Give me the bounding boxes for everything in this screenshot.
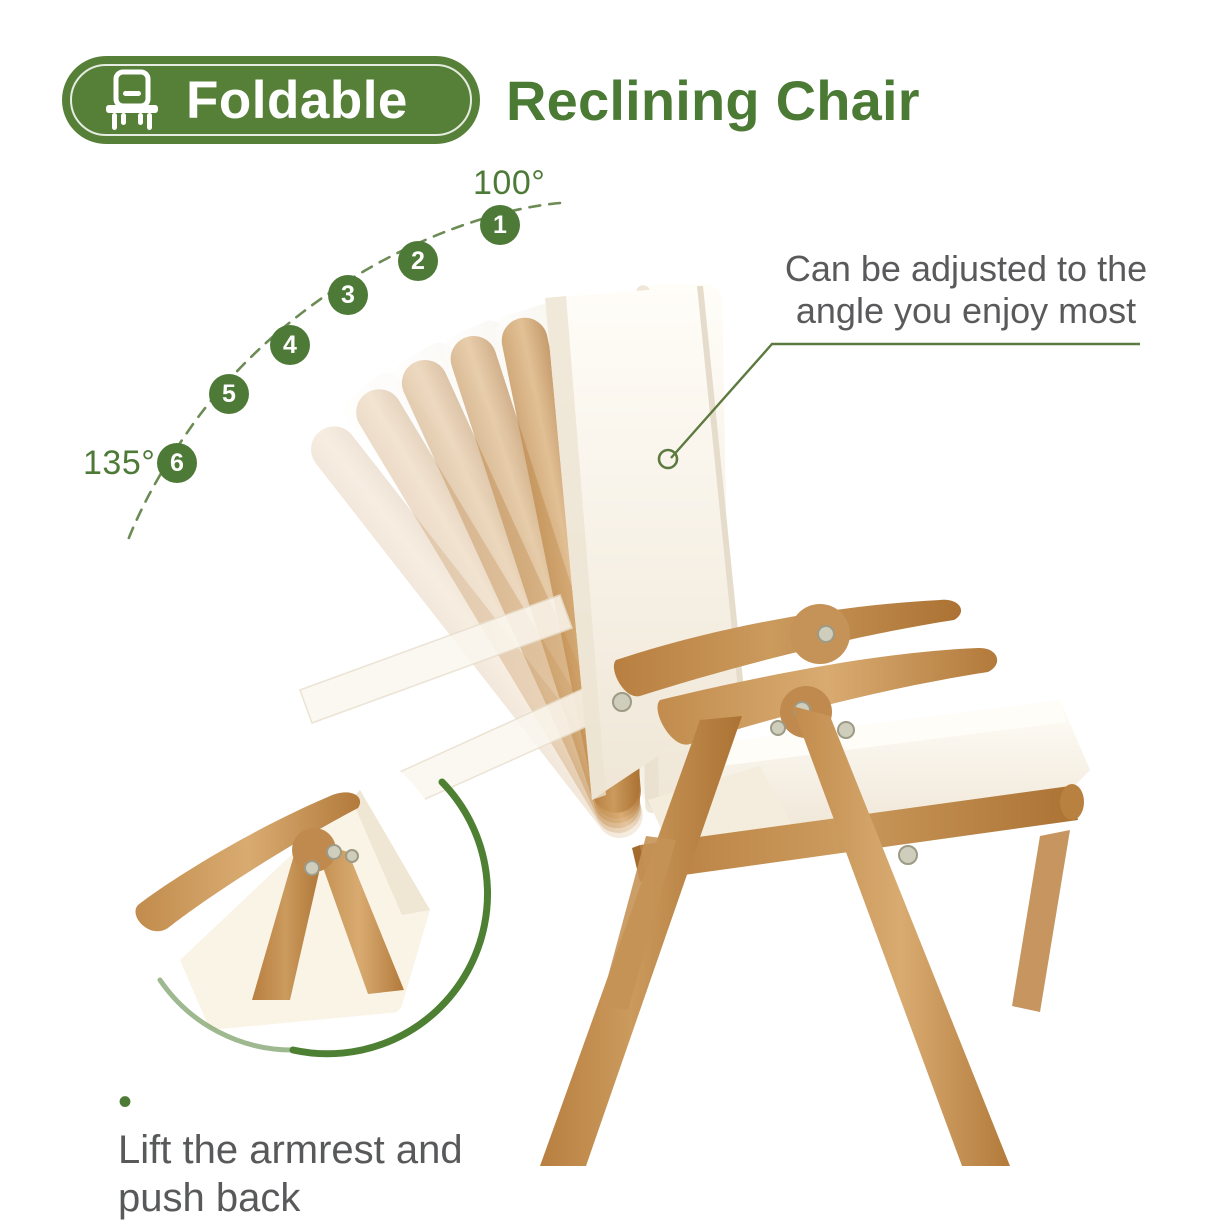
recline-position-6[interactable]: 6: [157, 443, 197, 483]
recline-position-2[interactable]: 2: [398, 241, 438, 281]
callout-leader: [659, 344, 1140, 468]
bullet-icon: •: [118, 1080, 132, 1124]
armrest-upper: [614, 600, 961, 697]
angle-min-label: 100°: [473, 166, 545, 200]
inset-caption: • Lift the armrest and push back: [118, 1078, 538, 1222]
chair-icon: [104, 69, 160, 131]
recline-position-5[interactable]: 5: [209, 374, 249, 414]
foldable-badge: Foldable: [62, 56, 480, 144]
recline-fan-ghosts: [297, 289, 715, 847]
page-title: Reclining Chair: [506, 66, 920, 136]
recline-position-label: 1: [493, 213, 507, 238]
seat-frame: [632, 784, 1084, 882]
armrest-lower: [657, 648, 997, 745]
hinge-assembly: [613, 604, 917, 864]
badge-label: Foldable: [186, 74, 408, 127]
annotation-layer: [0, 0, 1214, 1214]
recline-position-label: 4: [283, 333, 297, 358]
recline-position-label: 5: [222, 382, 236, 407]
recline-position-label: 3: [341, 283, 355, 308]
infographic-canvas: Foldable Reclining Chair 100° 135° 1 2 3…: [0, 0, 1214, 1214]
backrest-main: [545, 284, 742, 814]
recline-position-label: 6: [170, 451, 184, 476]
recline-position-3[interactable]: 3: [328, 275, 368, 315]
recline-arc: [128, 203, 560, 540]
armrest-detail-inset: [133, 730, 488, 1054]
product-illustration: [0, 0, 1214, 1214]
inset-caption-text: Lift the armrest and push back: [118, 1126, 538, 1222]
recline-position-1[interactable]: 1: [480, 205, 520, 245]
chair-legs: [540, 706, 1070, 1166]
angle-max-label: 135°: [83, 446, 155, 480]
recline-position-label: 2: [411, 249, 425, 274]
recline-position-4[interactable]: 4: [270, 325, 310, 365]
seat-cushion: [648, 700, 1090, 862]
adjust-angle-callout: Can be adjusted to the angle you enjoy m…: [762, 248, 1170, 332]
